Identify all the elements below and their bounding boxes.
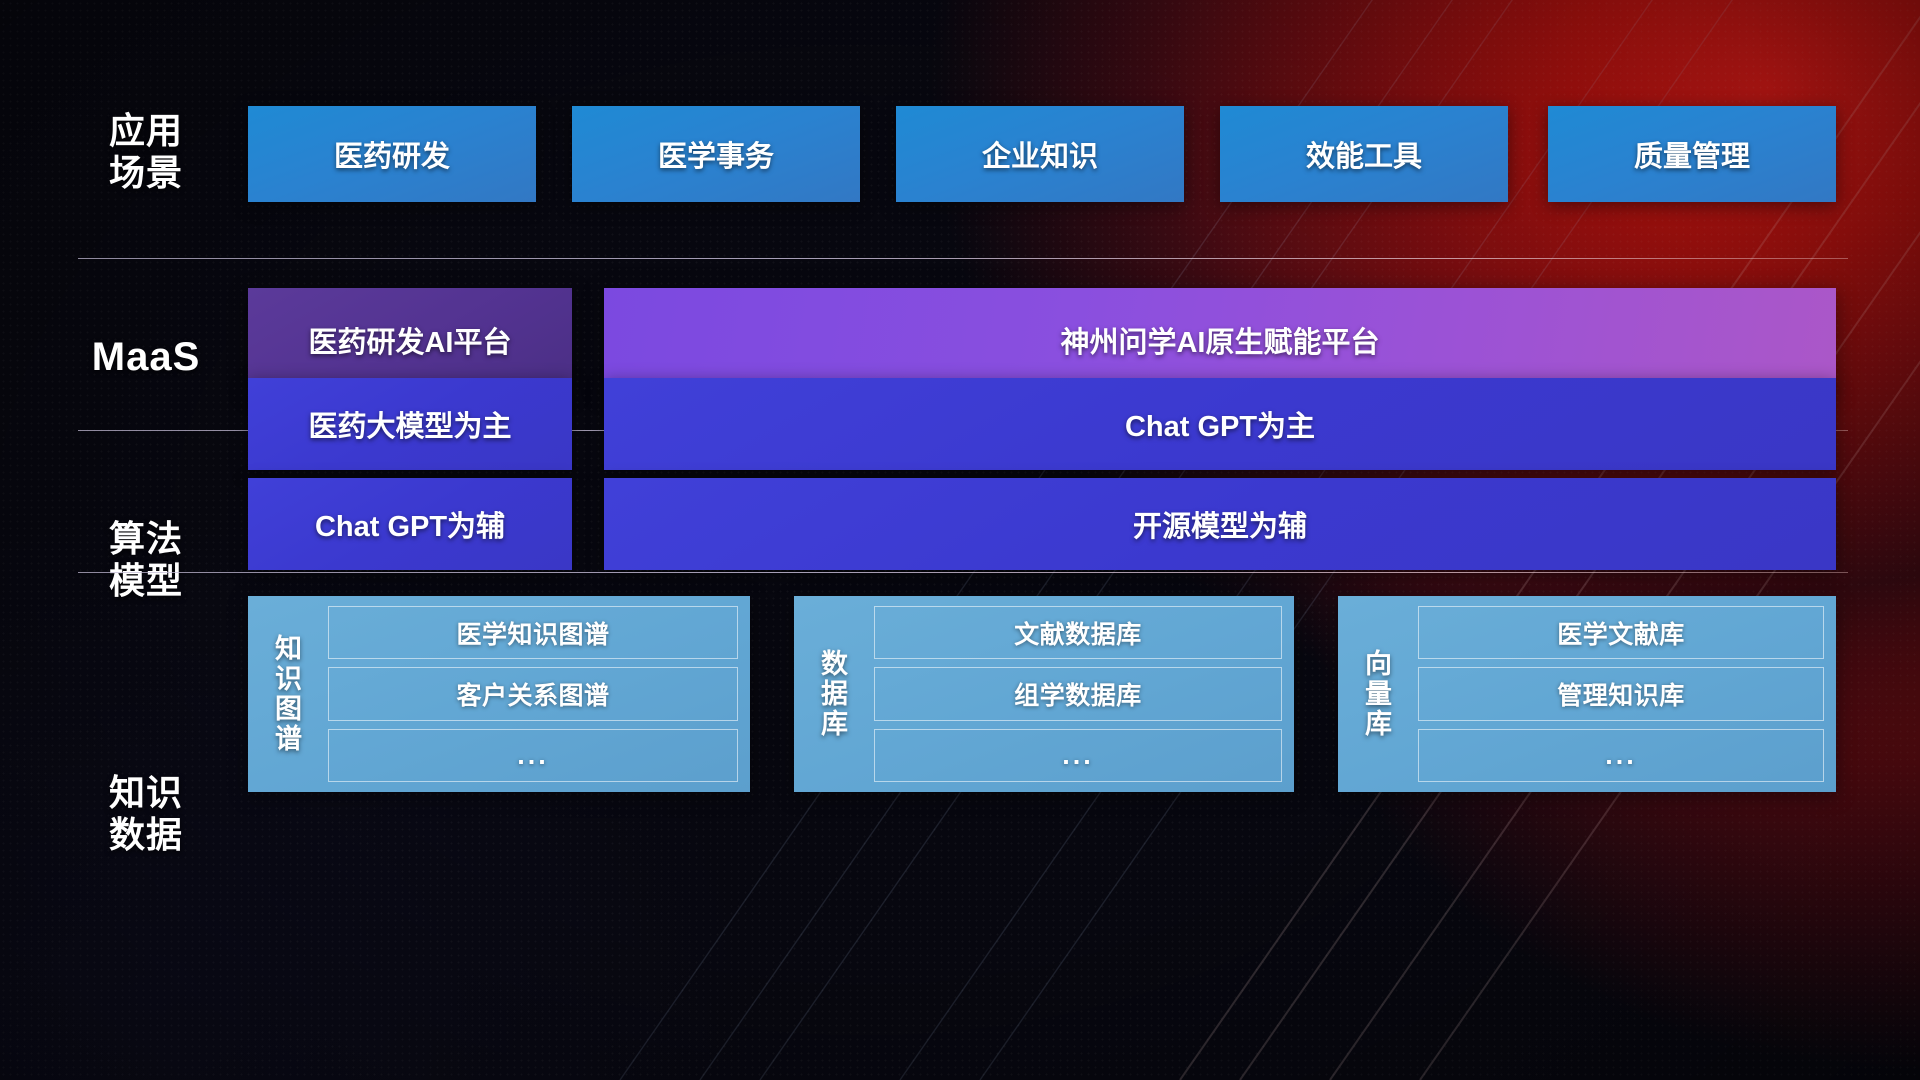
- app-scenario-box-4[interactable]: 效能工具: [1220, 106, 1508, 202]
- title-char-2: 据: [821, 679, 849, 709]
- knowledge-item-list: 医学知识图谱 客户关系图谱 ...: [320, 606, 738, 782]
- title-char-3: 库: [1365, 709, 1393, 739]
- title-char-2: 识: [275, 664, 303, 694]
- title-char-2: 量: [1365, 679, 1393, 709]
- row-label-line-1: 应用: [78, 110, 214, 152]
- app-scenario-box-3[interactable]: 企业知识: [896, 106, 1184, 202]
- row-label-line-2: 数据: [78, 814, 214, 856]
- knowledge-item[interactable]: 医学文献库: [1418, 606, 1824, 659]
- knowledge-group-database[interactable]: 数 据 库 文献数据库 组学数据库 ...: [794, 596, 1294, 792]
- divider-1: [78, 258, 1848, 259]
- knowledge-group-title-database: 数 据 库: [804, 649, 866, 740]
- row-label-maas: MaaS: [78, 334, 214, 381]
- title-char-4: 谱: [275, 724, 303, 754]
- knowledge-item[interactable]: 客户关系图谱: [328, 667, 738, 720]
- app-scenario-box-2[interactable]: 医学事务: [572, 106, 860, 202]
- algo-box-chatgpt-primary[interactable]: Chat GPT为主: [604, 378, 1836, 470]
- algo-box-pharma-primary[interactable]: 医药大模型为主: [248, 378, 572, 470]
- row-label-line-2: 场景: [78, 152, 214, 194]
- title-char-3: 图: [275, 694, 303, 724]
- app-scenario-box-1[interactable]: 医药研发: [248, 106, 536, 202]
- architecture-diagram: 应用 场景 医药研发 医学事务 企业知识 效能工具 质量管理 MaaS 医药研发…: [0, 0, 1920, 1080]
- app-scenario-box-5[interactable]: 质量管理: [1548, 106, 1836, 202]
- knowledge-item[interactable]: 文献数据库: [874, 606, 1282, 659]
- title-char-1: 向: [1365, 649, 1393, 679]
- title-char-3: 库: [821, 709, 849, 739]
- divider-3: [78, 572, 1848, 573]
- row-label-algorithm-model: 算法 模型: [78, 518, 214, 603]
- row-label-line-1: 知识: [78, 772, 214, 814]
- knowledge-group-knowledge-graph[interactable]: 知 识 图 谱 医学知识图谱 客户关系图谱 ...: [248, 596, 750, 792]
- knowledge-group-title-vector-store: 向 量 库: [1348, 649, 1410, 740]
- title-char-1: 知: [275, 634, 303, 664]
- row-label-application-scenario: 应用 场景: [78, 110, 214, 195]
- knowledge-item-more[interactable]: ...: [874, 729, 1282, 782]
- row-label-line-2: 模型: [78, 560, 214, 602]
- knowledge-group-title-knowledge-graph: 知 识 图 谱: [258, 634, 320, 755]
- title-char-1: 数: [821, 649, 849, 679]
- knowledge-item-list: 文献数据库 组学数据库 ...: [866, 606, 1282, 782]
- knowledge-item[interactable]: 管理知识库: [1418, 667, 1824, 720]
- algo-box-opensource-secondary[interactable]: 开源模型为辅: [604, 478, 1836, 570]
- knowledge-item-more[interactable]: ...: [328, 729, 738, 782]
- row-label-knowledge-data: 知识 数据: [78, 772, 214, 857]
- maas-platform-box-pharma[interactable]: 医药研发AI平台: [248, 288, 572, 392]
- knowledge-item[interactable]: 医学知识图谱: [328, 606, 738, 659]
- row-label-line-1: 算法: [78, 518, 214, 560]
- knowledge-item-list: 医学文献库 管理知识库 ...: [1410, 606, 1824, 782]
- knowledge-group-vector-store[interactable]: 向 量 库 医学文献库 管理知识库 ...: [1338, 596, 1836, 792]
- knowledge-item[interactable]: 组学数据库: [874, 667, 1282, 720]
- maas-platform-box-shenzhou[interactable]: 神州问学AI原生赋能平台: [604, 288, 1836, 392]
- algo-box-chatgpt-secondary[interactable]: Chat GPT为辅: [248, 478, 572, 570]
- knowledge-item-more[interactable]: ...: [1418, 729, 1824, 782]
